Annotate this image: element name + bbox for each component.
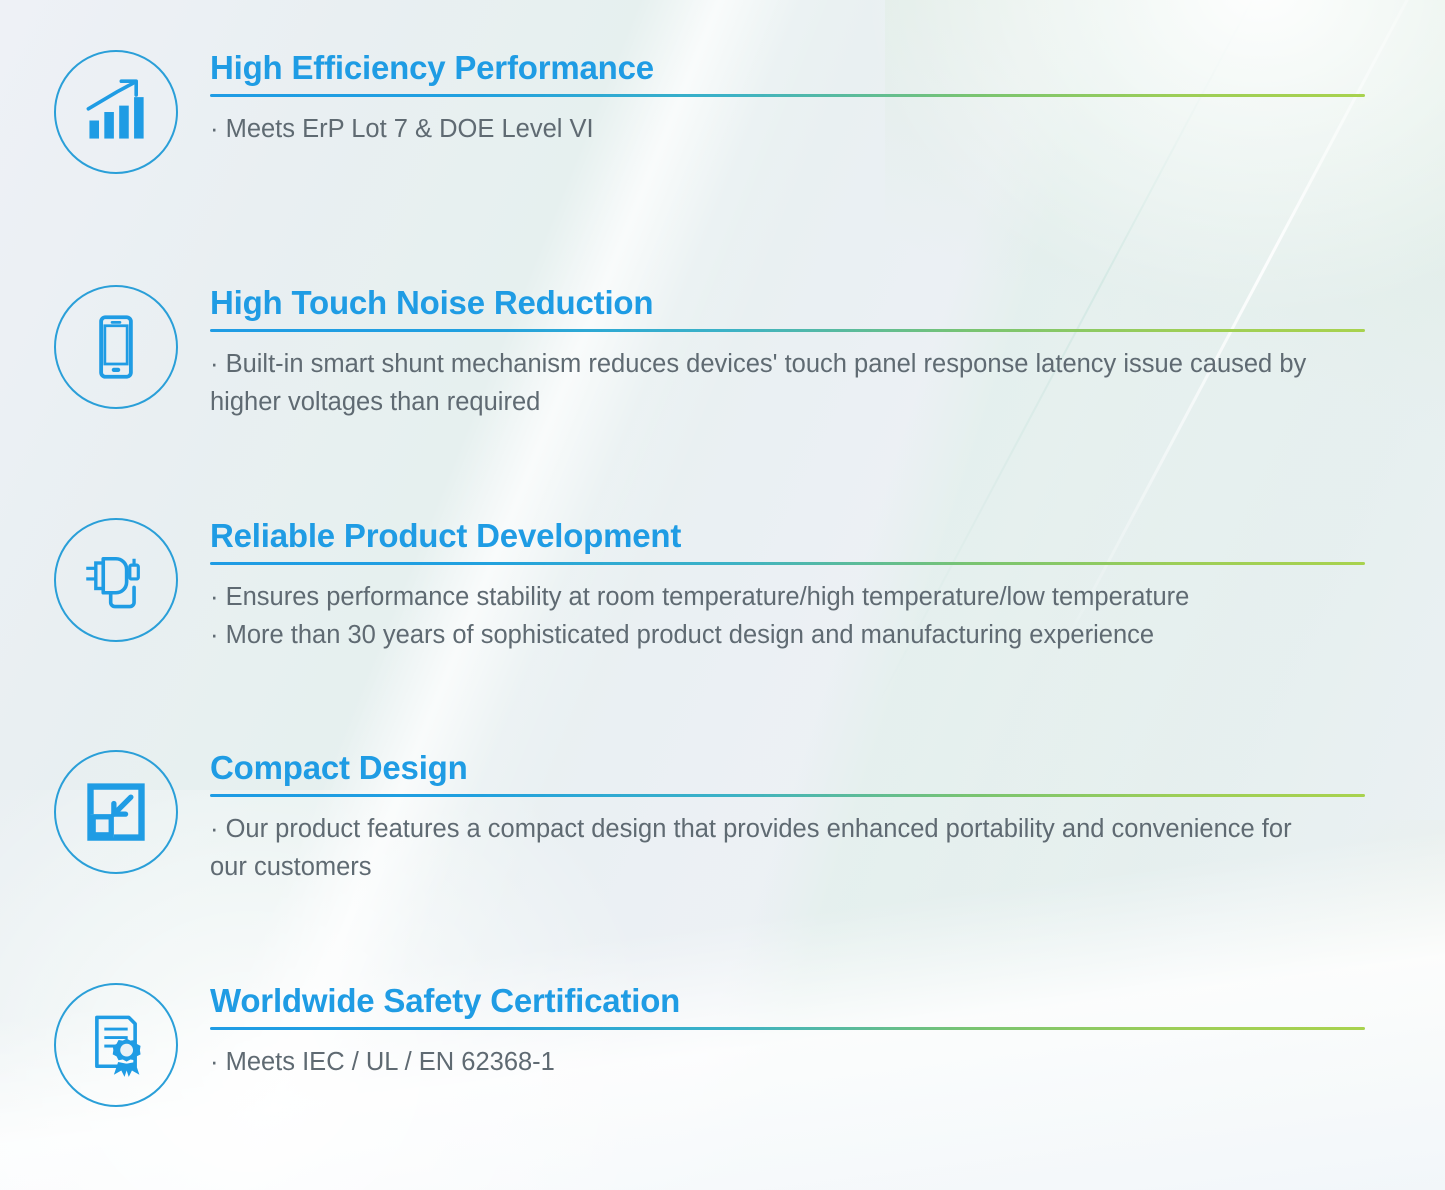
feature-bullet: · Our product features a compact design …: [210, 811, 1320, 886]
feature-bullets: · Meets IEC / UL / EN 62368-1: [210, 1044, 1368, 1082]
feature-text-block: High Efficiency Performance · Meets ErP …: [210, 50, 1368, 149]
feature-title: Compact Design: [210, 750, 1368, 787]
feature-text-block: Compact Design · Our product features a …: [210, 750, 1368, 886]
feature-divider: [210, 794, 1365, 797]
feature-title: High Efficiency Performance: [210, 50, 1368, 87]
feature-bullets: · Meets ErP Lot 7 & DOE Level VI: [210, 111, 1368, 149]
feature-text-block: Reliable Product Development · Ensures p…: [210, 518, 1368, 654]
feature-title: Worldwide Safety Certification: [210, 983, 1368, 1020]
feature-bullet: · Ensures performance stability at room …: [210, 579, 1368, 617]
feature-divider: [210, 1027, 1365, 1030]
feature-bullets: · Built-in smart shunt mechanism reduces…: [210, 346, 1368, 421]
feature-bullet: · Meets ErP Lot 7 & DOE Level VI: [210, 111, 1368, 149]
feature-bullet: · Built-in smart shunt mechanism reduces…: [210, 346, 1368, 421]
feature-text-block: High Touch Noise Reduction · Built-in sm…: [210, 285, 1368, 421]
feature-icon-container: [54, 983, 178, 1107]
bar-chart-growth-icon: [82, 78, 150, 146]
feature-title: Reliable Product Development: [210, 518, 1368, 555]
feature-divider: [210, 329, 1365, 332]
feature-bullets: · Ensures performance stability at room …: [210, 579, 1368, 654]
feature-bullet: · More than 30 years of sophisticated pr…: [210, 617, 1368, 655]
feature-bullet: · Meets IEC / UL / EN 62368-1: [210, 1044, 1368, 1082]
compact-resize-icon: [82, 778, 150, 846]
feature-list: High Efficiency Performance · Meets ErP …: [0, 0, 1445, 1190]
feature-divider: [210, 562, 1365, 565]
feature-title: High Touch Noise Reduction: [210, 285, 1368, 322]
feature-highlights-page: High Efficiency Performance · Meets ErP …: [0, 0, 1445, 1190]
feature-icon-container: [54, 285, 178, 409]
feature-text-block: Worldwide Safety Certification · Meets I…: [210, 983, 1368, 1082]
power-adapter-icon: [82, 546, 150, 614]
feature-bullets: · Our product features a compact design …: [210, 811, 1368, 886]
feature-icon-container: [54, 750, 178, 874]
feature-divider: [210, 94, 1365, 97]
feature-icon-container: [54, 50, 178, 174]
smartphone-icon: [82, 313, 150, 381]
certificate-seal-icon: [82, 1011, 150, 1079]
feature-icon-container: [54, 518, 178, 642]
